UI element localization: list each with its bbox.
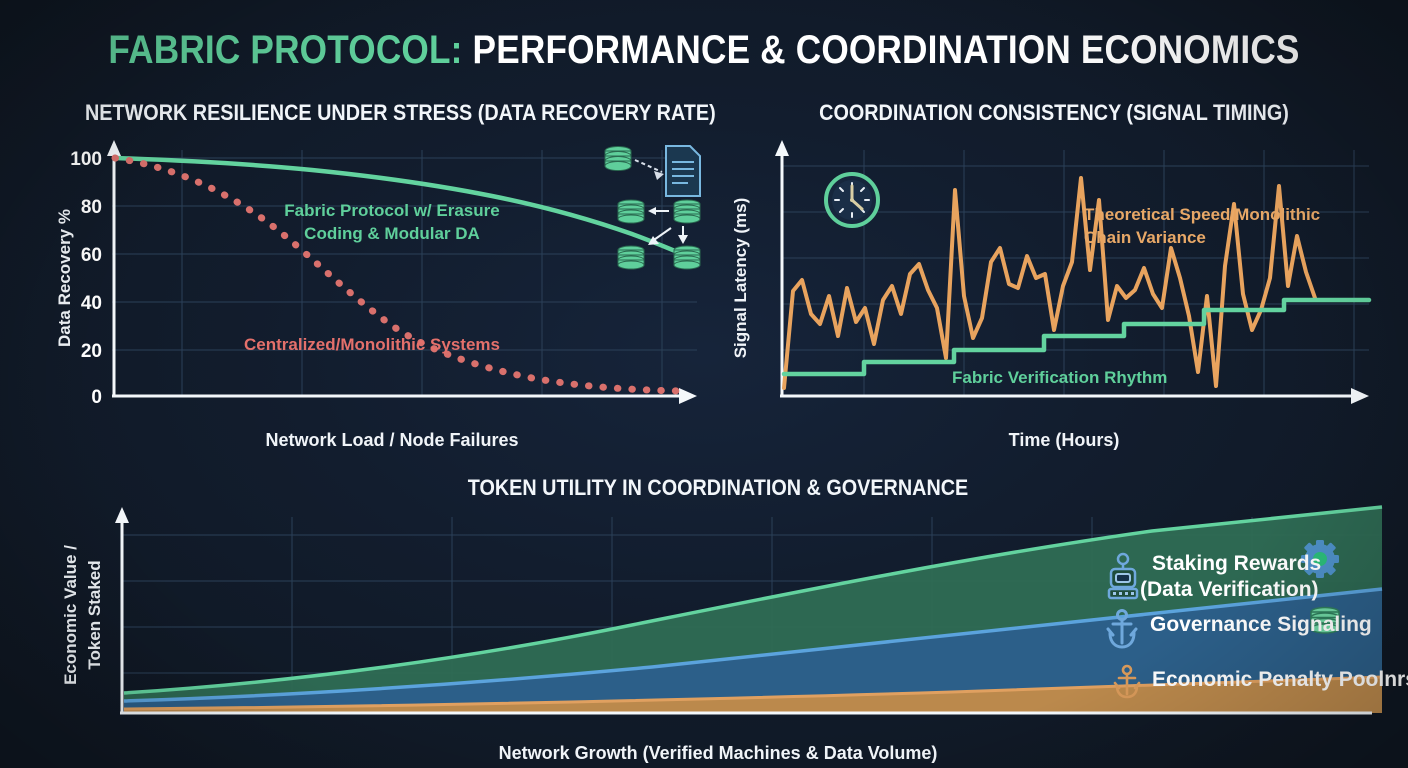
- y-tick-100: 100: [70, 149, 102, 170]
- panel-title-resilience: NETWORK RESILIENCE UNDER STRESS (DATA RE…: [85, 100, 679, 126]
- title-accent: FABRIC PROTOCOL:: [108, 28, 462, 72]
- y-axis-label-token-line1: Economic Value /: [61, 545, 80, 685]
- y-axis-arrow: [107, 140, 121, 156]
- x-axis-arrow: [1351, 388, 1369, 404]
- y-axis-arrow: [775, 140, 789, 156]
- label-verification-rhythm: Fabric Verification Rhythm: [952, 368, 1167, 387]
- clock-icon: [826, 174, 878, 226]
- y-tick-20: 20: [81, 341, 102, 362]
- y-axis-arrow: [115, 507, 129, 523]
- chart-coordination-consistency: Signal Latency (ms): [724, 138, 1384, 428]
- label-staking-line1: Staking Rewards: [1152, 552, 1321, 575]
- database-to-document-icon: [605, 146, 700, 196]
- gridlines: [112, 150, 697, 396]
- panel-network-resilience: NETWORK RESILIENCE UNDER STRESS (DATA RE…: [52, 100, 712, 460]
- panel-token-utility: TOKEN UTILITY IN COORDINATION & GOVERNAN…: [52, 475, 1384, 760]
- page-title: FABRIC PROTOCOL: PERFORMANCE & COORDINAT…: [84, 28, 1323, 73]
- y-axis-label-consistency: Signal Latency (ms): [731, 198, 750, 359]
- x-axis-label-token: Network Growth (Verified Machines & Data…: [52, 743, 1384, 764]
- panel-title-token: TOKEN UTILITY IN COORDINATION & GOVERNAN…: [119, 475, 1318, 501]
- label-centralized: Centralized/Monolithic Systems: [244, 335, 500, 354]
- label-variance-line2: Chain Variance: [1084, 228, 1206, 247]
- chart-token-utility: Economic Value / Token Staked: [52, 503, 1384, 733]
- x-axis-label-consistency: Time (Hours): [734, 430, 1394, 451]
- infographic-canvas: FABRIC PROTOCOL: PERFORMANCE & COORDINAT…: [0, 0, 1408, 768]
- y-axis-label-token-line2: Token Staked: [85, 560, 104, 669]
- label-governance: Governance Signaling: [1150, 613, 1372, 636]
- label-staking-line2: (Data Verification): [1140, 578, 1319, 601]
- x-axis-label-resilience: Network Load / Node Failures: [62, 430, 722, 451]
- y-tick-80: 80: [81, 197, 102, 218]
- y-axis-ticks: 100 80 60 40 20 0: [70, 149, 102, 408]
- label-variance-line1: Theoretical Speed/Monolithic: [1084, 205, 1320, 224]
- label-penalty-pools: Economic Penalty Poolnrs: [1152, 668, 1408, 691]
- label-fabric-line1: Fabric Protocol w/ Erasure: [284, 201, 499, 220]
- y-axis-label-resilience: Data Recovery %: [55, 209, 74, 347]
- chart-network-resilience: 100 80 60 40 20 0 Data Recovery % Fab: [52, 138, 712, 428]
- label-fabric-line2: Coding & Modular DA: [304, 224, 480, 243]
- title-rest: PERFORMANCE & COORDINATION ECONOMICS: [473, 28, 1300, 72]
- panel-coordination-consistency: COORDINATION CONSISTENCY (SIGNAL TIMING)…: [724, 100, 1384, 460]
- x-axis-arrow: [679, 388, 697, 404]
- y-tick-60: 60: [81, 245, 102, 266]
- y-tick-0: 0: [91, 387, 102, 408]
- panel-title-consistency: COORDINATION CONSISTENCY (SIGNAL TIMING): [757, 100, 1351, 126]
- y-tick-40: 40: [81, 293, 102, 314]
- series-centralized-monolithic: [115, 158, 682, 391]
